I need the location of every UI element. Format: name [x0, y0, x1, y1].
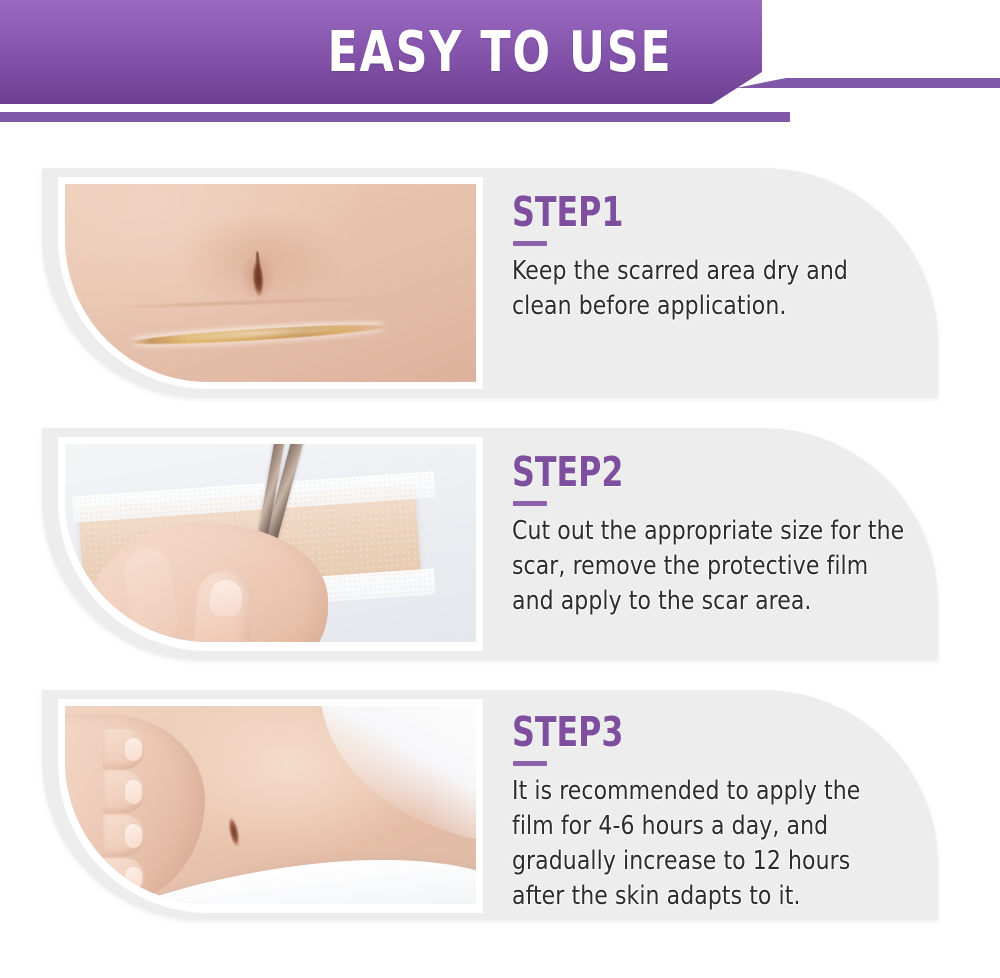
step-card-3: STEP3 It is recommended to apply the fil…	[42, 690, 938, 920]
step-photo-frame-2	[58, 437, 483, 651]
step-card-2: STEP2 Cut out the appropriate size for t…	[42, 428, 938, 660]
step-photo-frame-3	[58, 699, 483, 913]
step-title-3: STEP3	[512, 710, 873, 754]
finger-1-3	[103, 729, 145, 769]
thumb-2	[122, 545, 180, 642]
step-body-3: It is recommended to apply the film for …	[512, 774, 907, 914]
step-body-1: Keep the scarred area dry and clean befo…	[512, 254, 907, 324]
step-title-1: STEP1	[512, 190, 873, 234]
step-title-2: STEP2	[512, 450, 873, 494]
finger-2-3	[103, 771, 145, 813]
step-rule-2	[513, 501, 547, 506]
step-photo-frame-1	[58, 177, 483, 389]
step-photo-3	[65, 706, 476, 904]
fingernail-2	[208, 579, 242, 617]
header-banner: EASY TO USE	[0, 0, 1000, 124]
finger-4-3	[103, 858, 145, 898]
step-rule-3	[513, 761, 547, 766]
step-text-2: STEP2 Cut out the appropriate size for t…	[512, 450, 932, 619]
step-text-1: STEP1 Keep the scarred area dry and clea…	[512, 190, 932, 324]
finger-3-3	[103, 815, 145, 857]
banner-accent-bar-left	[0, 112, 790, 122]
navel-1	[227, 241, 290, 313]
easy-to-use-infographic: EASY TO USE STEP1 Keep the scarred area …	[0, 0, 1000, 978]
step-rule-1	[513, 241, 547, 246]
step-text-3: STEP3 It is recommended to apply the fil…	[512, 710, 932, 914]
step-body-2: Cut out the appropriate size for the sca…	[512, 514, 907, 619]
step-card-1: STEP1 Keep the scarred area dry and clea…	[42, 168, 938, 398]
step-photo-2	[65, 444, 476, 642]
step-photo-1	[65, 184, 476, 382]
index-finger-2	[191, 568, 255, 642]
page-title: EASY TO USE	[60, 22, 940, 84]
